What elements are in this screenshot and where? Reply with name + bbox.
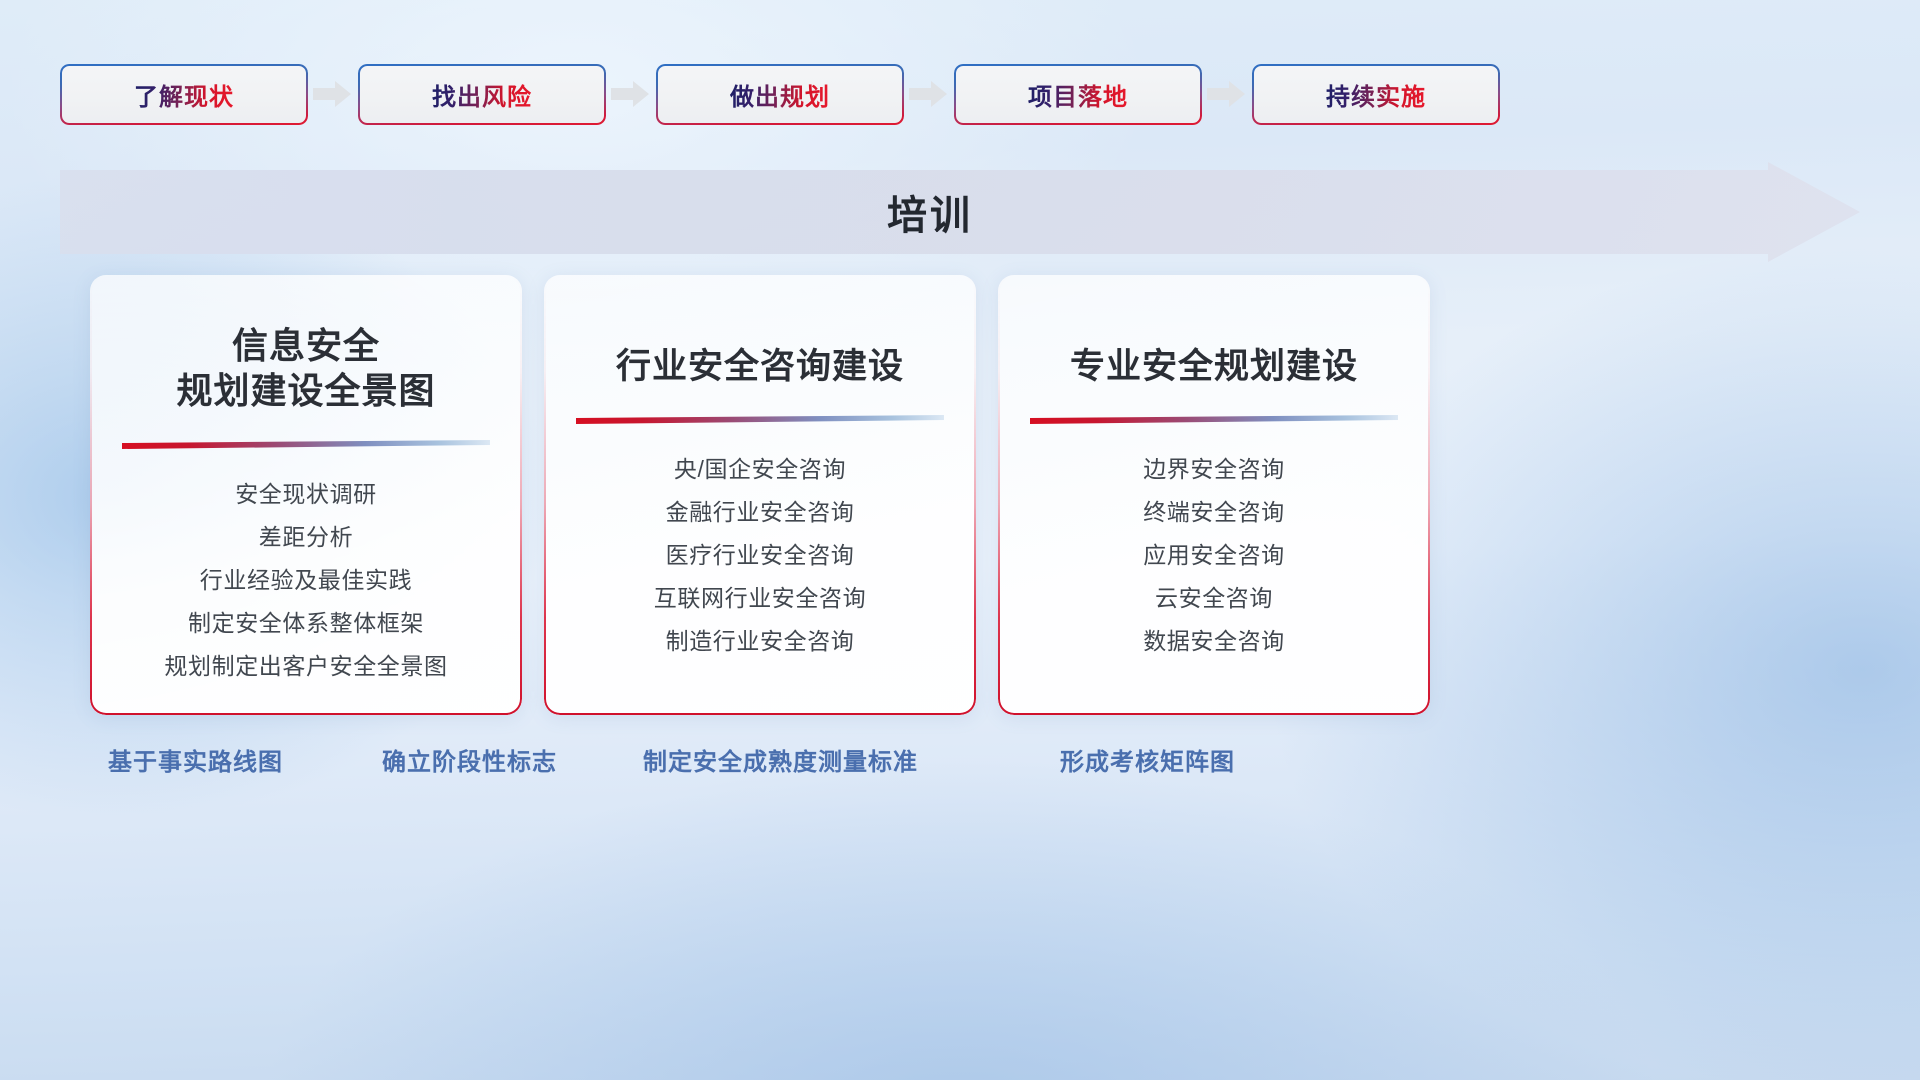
process-step-label: 了解现状 bbox=[134, 77, 234, 112]
card-divider-wrap bbox=[998, 415, 1430, 426]
list-item: 规划制定出客户安全全景图 bbox=[164, 645, 447, 688]
card-divider-wrap bbox=[544, 415, 976, 426]
card-title: 行业安全咨询建设 bbox=[602, 345, 918, 389]
process-step-3[interactable]: 项目落地 bbox=[954, 64, 1202, 125]
gradient-wedge-divider bbox=[1030, 415, 1398, 426]
list-item: 数据安全咨询 bbox=[1143, 620, 1285, 663]
gradient-wedge-divider bbox=[576, 415, 944, 426]
card-information-security-blueprint[interactable]: 信息安全 规划建设全景图 bbox=[90, 275, 522, 715]
bottom-label-row: 基于事实路线图 确立阶段性标志 制定安全成熟度测量标准 形成考核矩阵图 bbox=[0, 742, 1920, 782]
process-step-2[interactable]: 做出规划 bbox=[656, 64, 904, 125]
card-item-list: 边界安全咨询 终端安全咨询 应用安全咨询 云安全咨询 数据安全咨询 bbox=[998, 448, 1430, 663]
process-step-1[interactable]: 找出风险 bbox=[358, 64, 606, 125]
list-item: 央/国企安全咨询 bbox=[674, 448, 846, 491]
list-item: 金融行业安全咨询 bbox=[666, 491, 855, 534]
card-industry-security-consulting[interactable]: 行业安全咨询建设 bbox=[544, 275, 976, 715]
list-item: 制造行业安全咨询 bbox=[666, 620, 855, 663]
list-item: 行业经验及最佳实践 bbox=[200, 559, 412, 602]
arrow-right-icon bbox=[606, 74, 656, 114]
card-item-list: 安全现状调研 差距分析 行业经验及最佳实践 制定安全体系整体框架 规划制定出客户… bbox=[90, 473, 522, 688]
banner-title: 培训 bbox=[60, 162, 1860, 262]
process-step-label: 做出规划 bbox=[730, 77, 830, 112]
list-item: 互联网行业安全咨询 bbox=[654, 577, 866, 620]
bottom-label-1: 确立阶段性标志 bbox=[382, 742, 557, 777]
process-step-0[interactable]: 了解现状 bbox=[60, 64, 308, 125]
card-title: 专业安全规划建设 bbox=[1056, 345, 1372, 389]
process-step-label: 持续实施 bbox=[1326, 77, 1426, 112]
list-item: 医疗行业安全咨询 bbox=[666, 534, 855, 577]
card-title: 信息安全 规划建设全景图 bbox=[162, 323, 449, 414]
arrow-right-icon bbox=[1202, 74, 1252, 114]
process-step-row: 了解现状 找出风险 做出规划 项目落地 持续实施 bbox=[60, 63, 1860, 125]
process-step-label: 项目落地 bbox=[1028, 77, 1128, 112]
list-item: 安全现状调研 bbox=[235, 473, 377, 516]
process-step-4[interactable]: 持续实施 bbox=[1252, 64, 1500, 125]
training-banner: 培训 bbox=[60, 162, 1860, 262]
list-item: 边界安全咨询 bbox=[1143, 448, 1285, 491]
arrow-right-icon bbox=[308, 74, 358, 114]
card-item-list: 央/国企安全咨询 金融行业安全咨询 医疗行业安全咨询 互联网行业安全咨询 制造行… bbox=[544, 448, 976, 663]
list-item: 终端安全咨询 bbox=[1143, 491, 1285, 534]
bottom-label-3: 形成考核矩阵图 bbox=[1060, 742, 1235, 777]
bottom-label-0: 基于事实路线图 bbox=[108, 742, 283, 777]
card-row: 信息安全 规划建设全景图 bbox=[90, 275, 1845, 715]
card-professional-security-planning[interactable]: 专业安全规划建设 bbox=[998, 275, 1430, 715]
list-item: 云安全咨询 bbox=[1155, 577, 1273, 620]
list-item: 制定安全体系整体框架 bbox=[188, 602, 424, 645]
bottom-label-2: 制定安全成熟度测量标准 bbox=[643, 742, 918, 777]
gradient-wedge-divider bbox=[122, 440, 490, 451]
list-item: 应用安全咨询 bbox=[1143, 534, 1285, 577]
arrow-right-icon bbox=[904, 74, 954, 114]
list-item: 差距分析 bbox=[259, 516, 353, 559]
process-step-label: 找出风险 bbox=[432, 77, 532, 112]
card-divider-wrap bbox=[90, 440, 522, 451]
